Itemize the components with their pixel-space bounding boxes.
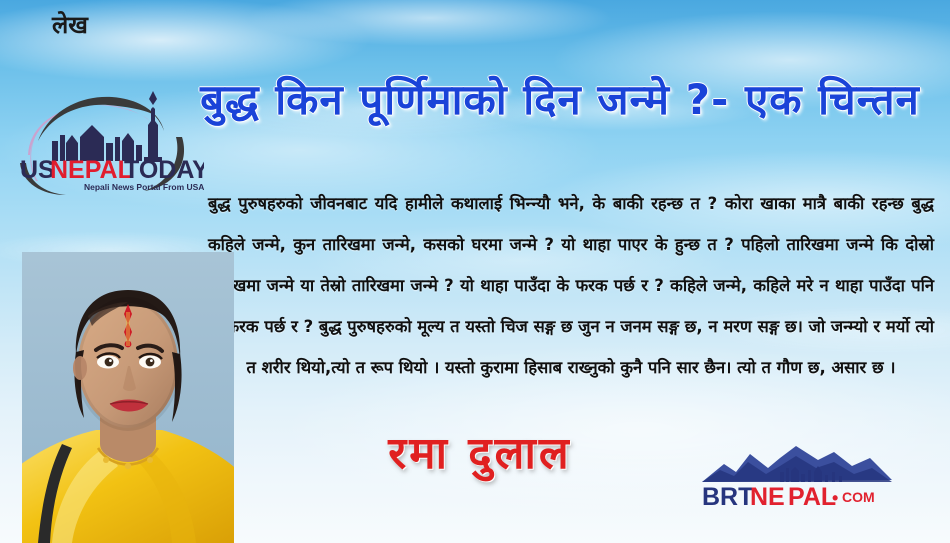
- author-byline: रमा दुलाल: [300, 432, 660, 476]
- category-kicker: लेख: [52, 13, 88, 37]
- logo-text-pal: PAL: [788, 483, 836, 510]
- logo-text-ne: NE: [750, 483, 785, 510]
- author-portrait: [22, 252, 234, 543]
- logo-text-brt: BRT: [702, 483, 753, 510]
- logo-text-dot: •: [832, 488, 838, 508]
- article-banner: लेख: [0, 0, 950, 543]
- logo-text-nepal: NEPAL: [50, 156, 133, 184]
- article-body-text: बुद्ध पुरुषहरुको जीवनबाट यदि हामीले कथाल…: [208, 183, 934, 388]
- logo-text-com: COM: [842, 489, 875, 505]
- page-title: बुद्ध किन पूर्णिमाको दिन जन्मे ?- एक चिन…: [190, 78, 930, 122]
- logo-text-today: TODAY: [124, 156, 204, 184]
- logo-tagline: Nepali News Portal From USA: [84, 182, 204, 192]
- mountain-icon: [702, 446, 892, 482]
- usnepaltoday-logo[interactable]: US NEPAL TODAY Nepali News Portal From U…: [8, 85, 204, 200]
- brtnepal-logo[interactable]: BRT NE PAL • COM: [684, 438, 914, 510]
